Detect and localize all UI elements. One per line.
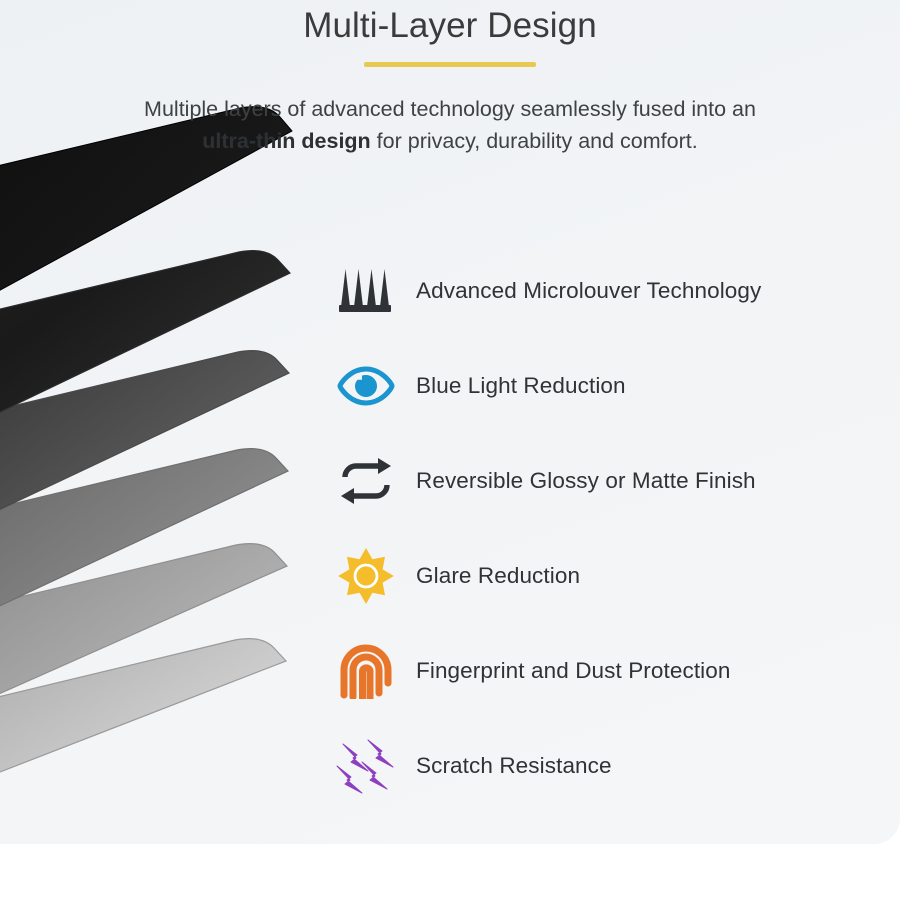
feature-label-scratch: Scratch Resistance [402, 753, 612, 779]
subtitle-line-1: Multiple layers of advanced technology s… [144, 97, 756, 121]
infographic-canvas: Multi-Layer Design Multiple layers of ad… [0, 0, 900, 900]
feature-label-reversible: Reversible Glossy or Matte Finish [402, 468, 756, 494]
subtitle-emphasis: ultra-thin design [202, 129, 370, 153]
title-divider-wrap [0, 62, 900, 67]
feature-label-blue-light: Blue Light Reduction [402, 373, 626, 399]
feature-label-glare: Glare Reduction [402, 563, 580, 589]
feature-row-scratch: Scratch Resistance [330, 718, 890, 813]
microlouver-icon [330, 258, 402, 324]
feature-row-glare: Glare Reduction [330, 528, 890, 623]
page-title: Multi-Layer Design [0, 0, 900, 48]
eye-icon [330, 353, 402, 419]
subtitle: Multiple layers of advanced technology s… [55, 93, 845, 158]
title-divider [364, 62, 536, 67]
subtitle-line-2: for privacy, durability and comfort. [371, 129, 698, 153]
feature-label-microlouver: Advanced Microlouver Technology [402, 278, 761, 304]
header: Multi-Layer Design Multiple layers of ad… [0, 0, 900, 158]
feature-row-reversible: Reversible Glossy or Matte Finish [330, 433, 890, 528]
fingerprint-icon [330, 638, 402, 704]
feature-list: Advanced Microlouver Technology Blue Lig… [330, 243, 890, 813]
feature-row-blue-light: Blue Light Reduction [330, 338, 890, 433]
claw-scratch-icon [330, 733, 402, 799]
feature-label-fingerprint: Fingerprint and Dust Protection [402, 658, 731, 684]
reverse-arrows-icon [330, 448, 402, 514]
sun-icon [330, 543, 402, 609]
feature-row-fingerprint: Fingerprint and Dust Protection [330, 623, 890, 718]
feature-row-microlouver: Advanced Microlouver Technology [330, 243, 890, 338]
